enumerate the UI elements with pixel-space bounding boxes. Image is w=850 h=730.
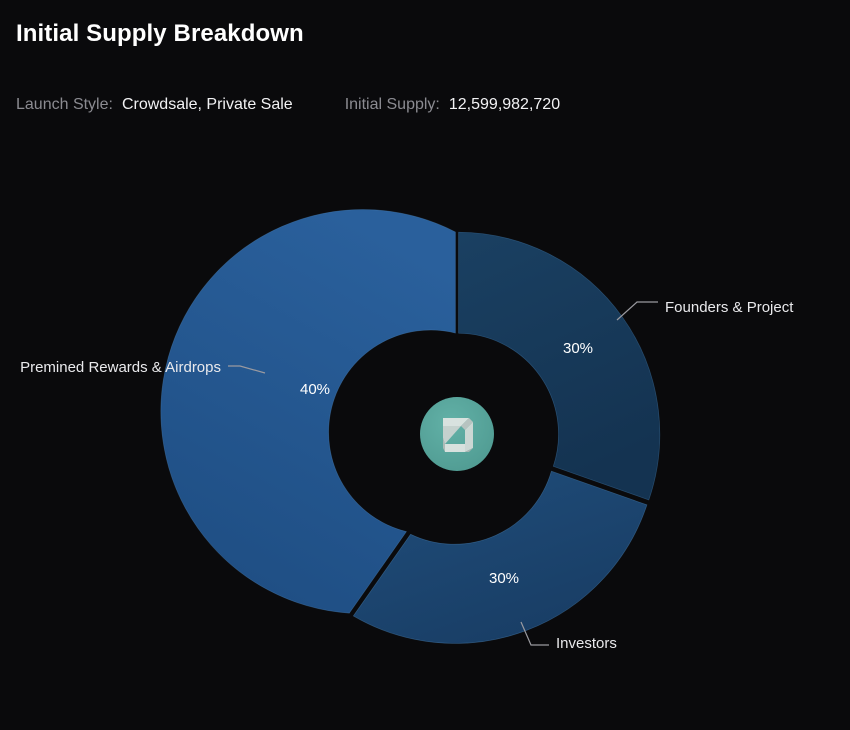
- leader-line-founders: [617, 302, 658, 320]
- donut-slice-founders[interactable]: [459, 232, 660, 500]
- initial-supply-donut-chart: 30% 30% 40% Founders & Project Investors…: [0, 0, 850, 730]
- donut-slice-investors[interactable]: [353, 471, 647, 643]
- callout-label-investors: Investors: [556, 635, 617, 652]
- callout-label-premined: Premined Rewards & Airdrops: [20, 359, 221, 376]
- slice-percent-founders: 30%: [563, 340, 593, 357]
- slice-percent-premined: 40%: [300, 381, 330, 398]
- callout-label-founders: Founders & Project: [665, 299, 794, 316]
- zilliqa-logo-icon: [420, 397, 494, 471]
- slice-percent-investors: 30%: [489, 570, 519, 587]
